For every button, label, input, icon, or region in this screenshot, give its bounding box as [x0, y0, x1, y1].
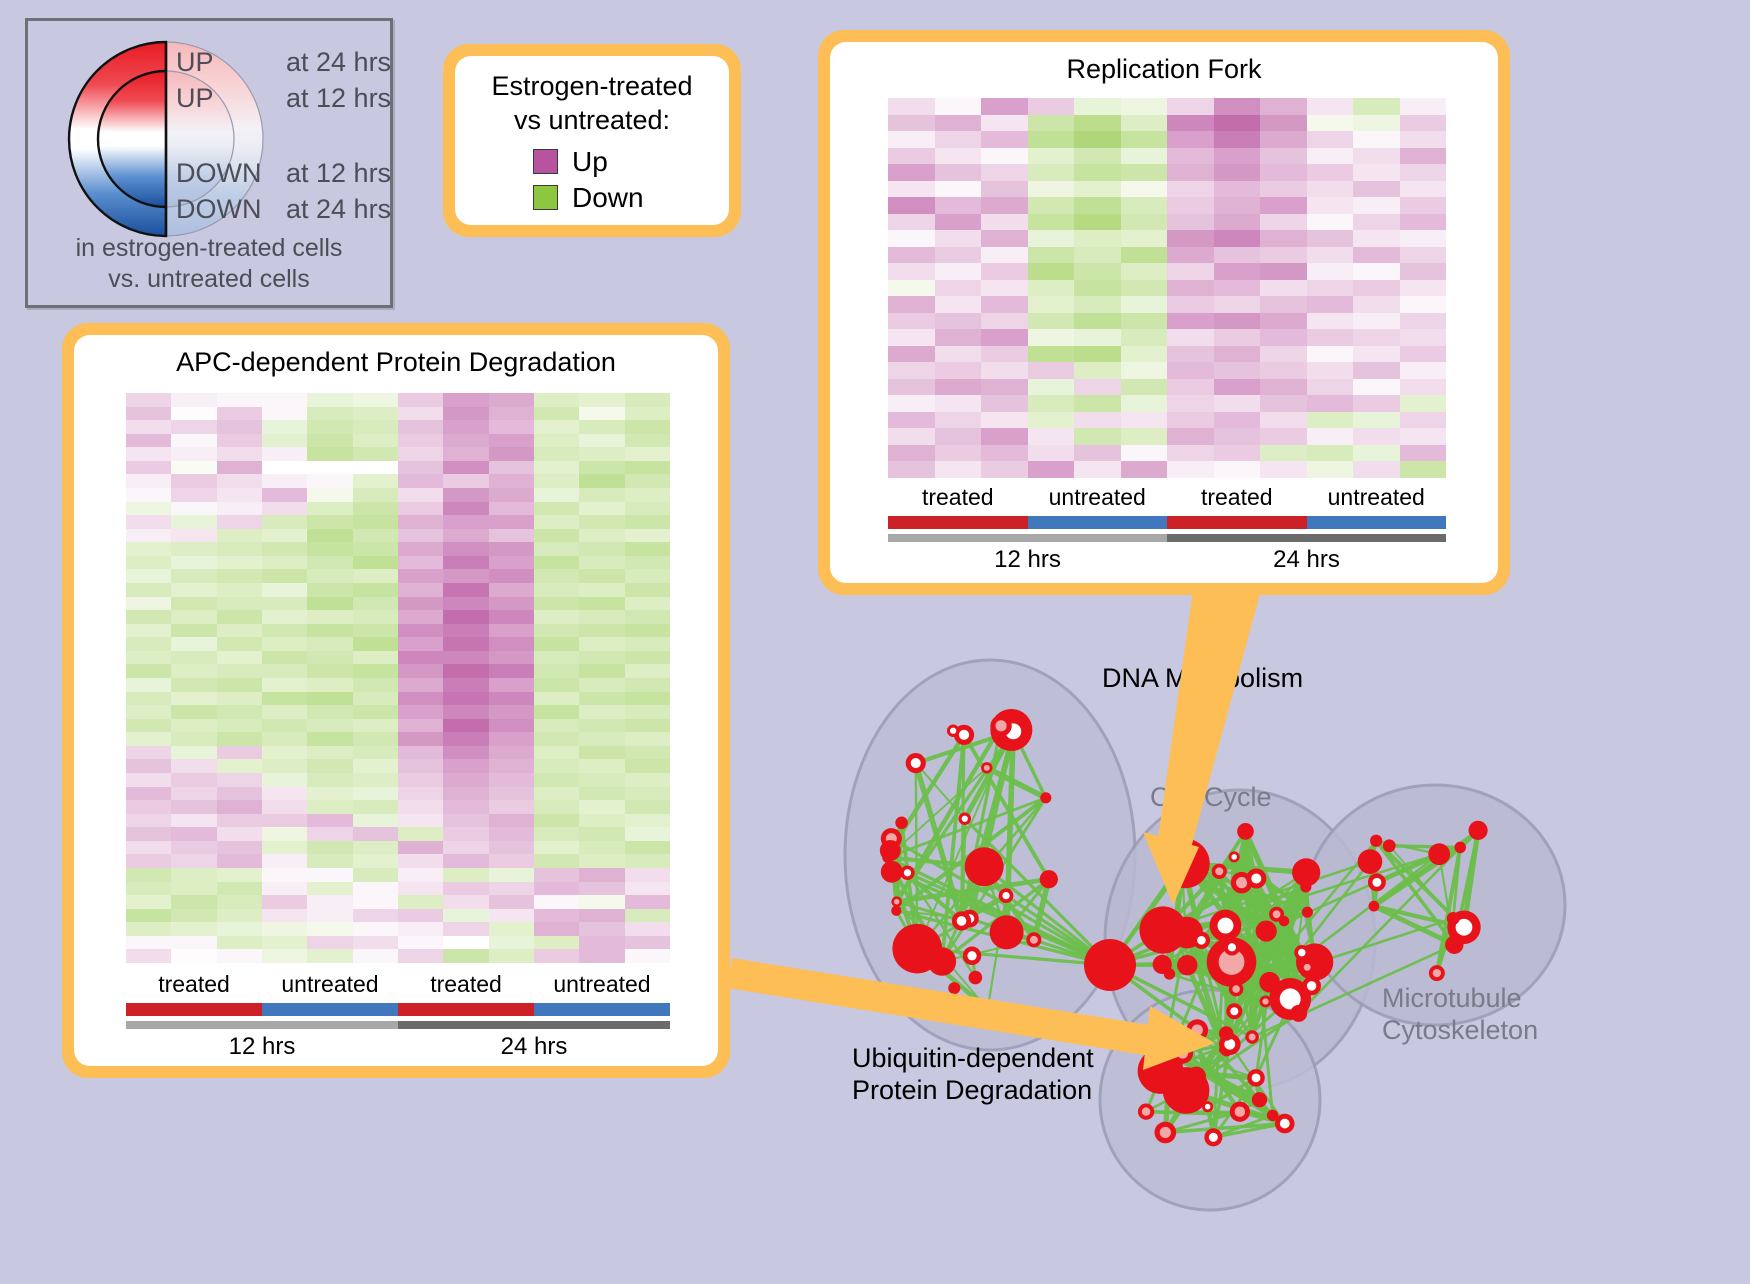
heatmap-cell — [981, 131, 1028, 148]
heatmap-cell — [126, 461, 171, 475]
heatmap-cell — [1260, 197, 1307, 214]
heatmap-cell — [262, 949, 307, 963]
heatmap-cell — [307, 407, 352, 421]
heatmap-cell — [625, 895, 670, 909]
heatmap-cell — [217, 461, 262, 475]
heatmap-cell — [398, 569, 443, 583]
heatmap-cell — [489, 529, 534, 543]
heatmap-cell — [398, 759, 443, 773]
heatmap-cell — [443, 692, 488, 706]
heatmap-cell — [307, 787, 352, 801]
heatmap-cell — [171, 542, 216, 556]
heatmap-cell — [579, 827, 624, 841]
heatmap-cell — [534, 732, 579, 746]
heatmap-cell — [625, 909, 670, 923]
heatmap-cell — [625, 393, 670, 407]
heatmap-cell — [1214, 197, 1261, 214]
heatmap-cell — [126, 556, 171, 570]
network-node-core — [984, 765, 990, 771]
heatmap-cell — [1307, 181, 1354, 198]
heatmap-cell — [534, 854, 579, 868]
replication-fork-heatmap — [888, 98, 1446, 478]
heatmap-cell — [262, 597, 307, 611]
heatmap-cell — [398, 787, 443, 801]
heatmap-cell — [1353, 329, 1400, 346]
heatmap-cell — [579, 434, 624, 448]
heatmap-cell — [307, 542, 352, 556]
pathway-network-diagram: DNA Metabolism Cell Cycle Microtubule Cy… — [790, 610, 1750, 1279]
heatmap-cell — [1167, 115, 1214, 132]
heatmap-cell — [1074, 428, 1121, 445]
heatmap-cell — [888, 296, 935, 313]
heatmap-cell — [398, 719, 443, 733]
heatmap-cell — [126, 474, 171, 488]
heatmap-cell — [171, 868, 216, 882]
heatmap-cell — [1400, 197, 1447, 214]
heatmap-cell — [1028, 164, 1075, 181]
heatmap-cell — [625, 746, 670, 760]
heatmap-cell — [579, 624, 624, 638]
rf-condition-color-bar — [888, 516, 1446, 529]
network-node — [1454, 842, 1466, 854]
heatmap-cell — [579, 787, 624, 801]
heatmap-cell — [262, 474, 307, 488]
heatmap-cell — [1214, 263, 1261, 280]
heatmap-cell — [1353, 98, 1400, 115]
heatmap-cell — [489, 827, 534, 841]
heatmap-cell — [1028, 280, 1075, 297]
heatmap-cell — [353, 882, 398, 896]
heatmap-cell — [534, 610, 579, 624]
heatmap-cell — [353, 678, 398, 692]
heatmap-cell — [489, 841, 534, 855]
heatmap-cell — [217, 895, 262, 909]
heatmap-cell — [262, 556, 307, 570]
heatmap-cell — [1214, 379, 1261, 396]
heatmap-cell — [1121, 296, 1168, 313]
heatmap-cell — [1400, 280, 1447, 297]
heatmap-cell — [1214, 98, 1261, 115]
heatmap-cell — [1260, 346, 1307, 363]
heatmap-cell — [353, 719, 398, 733]
heatmap-cell — [171, 651, 216, 665]
heatmap-cell — [353, 827, 398, 841]
heatmap-cell — [307, 624, 352, 638]
heatmap-cell — [981, 247, 1028, 264]
heatmap-cell — [625, 583, 670, 597]
heatmap-cell — [443, 678, 488, 692]
heatmap-cell — [579, 705, 624, 719]
heatmap-cell — [1074, 395, 1121, 412]
time-label: 24 hrs — [1167, 546, 1446, 574]
heatmap-cell — [262, 678, 307, 692]
heatmap-cell — [307, 705, 352, 719]
heatmap-cell — [1260, 214, 1307, 231]
heatmap-cell — [126, 597, 171, 611]
heatmap-cell — [307, 664, 352, 678]
network-node — [1445, 936, 1463, 954]
network-node — [1302, 907, 1313, 918]
heatmap-cell — [443, 637, 488, 651]
heatmap-cell — [1028, 197, 1075, 214]
heatmap-cell — [1400, 131, 1447, 148]
heatmap-cell — [935, 412, 982, 429]
heatmap-cell — [981, 98, 1028, 115]
rf-panel-title: Replication Fork — [830, 42, 1498, 85]
heatmap-cell — [398, 895, 443, 909]
time-label: 24 hrs — [398, 1033, 670, 1061]
heatmap-cell — [262, 420, 307, 434]
heatmap-cell — [217, 556, 262, 570]
heatmap-cell — [307, 936, 352, 950]
heatmap-cell — [353, 407, 398, 421]
heatmap-cell — [443, 502, 488, 516]
network-node — [1300, 881, 1311, 892]
heatmap-cell — [1028, 98, 1075, 115]
heatmap-cell — [126, 447, 171, 461]
heatmap-cell — [126, 868, 171, 882]
heatmap-cell — [1260, 461, 1307, 478]
heatmap-cell — [981, 296, 1028, 313]
heatmap-cell — [307, 610, 352, 624]
heatmap-cell — [1028, 115, 1075, 132]
heatmap-cell — [625, 787, 670, 801]
heatmap-cell — [981, 181, 1028, 198]
heatmap-cell — [981, 280, 1028, 297]
heatmap-cell — [171, 664, 216, 678]
heatmap-cell — [1353, 313, 1400, 330]
heatmap-cell — [534, 637, 579, 651]
network-node-core — [1232, 985, 1240, 993]
network-node — [969, 971, 983, 985]
heatmap-cell — [579, 732, 624, 746]
heatmap-cell — [307, 692, 352, 706]
heatmap-cell — [126, 949, 171, 963]
heatmap-cell — [625, 678, 670, 692]
heatmap-cell — [981, 379, 1028, 396]
heatmap-cell — [1214, 148, 1261, 165]
heatmap-cell — [398, 827, 443, 841]
heatmap-cell — [1260, 445, 1307, 462]
heatmap-cell — [217, 569, 262, 583]
heatmap-cell — [1214, 280, 1261, 297]
heatmap-cell — [625, 814, 670, 828]
heatmap-cell — [1353, 428, 1400, 445]
network-node — [1369, 901, 1380, 912]
heatmap-cell — [1121, 247, 1168, 264]
heatmap-cell — [1260, 313, 1307, 330]
heatmap-cell — [1121, 214, 1168, 231]
heatmap-cell — [171, 610, 216, 624]
heatmap-cell — [1074, 280, 1121, 297]
heatmap-cell — [534, 407, 579, 421]
time-bar-segment — [398, 1021, 670, 1029]
heatmap-cell — [625, 949, 670, 963]
heatmap-cell — [625, 610, 670, 624]
heatmap-cell — [935, 445, 982, 462]
heatmap-cell — [489, 488, 534, 502]
heatmap-cell — [888, 280, 935, 297]
heatmap-cell — [443, 542, 488, 556]
heatmap-cell — [1400, 412, 1447, 429]
heatmap-cell — [1307, 313, 1354, 330]
heatmap-cell — [1260, 247, 1307, 264]
heatmap-cell — [171, 746, 216, 760]
heatmap-cell — [1400, 445, 1447, 462]
heatmap-cell — [443, 882, 488, 896]
heatmap-cell — [981, 230, 1028, 247]
heatmap-cell — [1400, 313, 1447, 330]
network-node — [1040, 792, 1051, 803]
heatmap-cell — [217, 624, 262, 638]
network-node — [1040, 870, 1058, 888]
estrogen-key-panel: Estrogen-treated vs untreated: Up Down — [443, 44, 741, 237]
heatmap-cell — [262, 529, 307, 543]
heatmap-cell — [579, 529, 624, 543]
heatmap-cell — [443, 664, 488, 678]
network-node — [1084, 939, 1136, 991]
heatmap-cell — [353, 651, 398, 665]
heatmap-cell — [1028, 214, 1075, 231]
heatmap-cell — [262, 447, 307, 461]
heatmap-cell — [1167, 263, 1214, 280]
heatmap-cell — [262, 434, 307, 448]
heatmap-cell — [126, 732, 171, 746]
heatmap-cell — [217, 692, 262, 706]
heatmap-cell — [262, 841, 307, 855]
heatmap-cell — [1307, 230, 1354, 247]
heatmap-cell — [1028, 131, 1075, 148]
heatmap-cell — [534, 692, 579, 706]
heatmap-cell — [398, 542, 443, 556]
heatmap-cell — [126, 854, 171, 868]
heatmap-cell — [171, 773, 216, 787]
heatmap-cell — [935, 461, 982, 478]
network-node — [1469, 821, 1488, 840]
heatmap-cell — [981, 445, 1028, 462]
network-node-core — [1215, 867, 1223, 875]
heatmap-cell — [1028, 395, 1075, 412]
heatmap-cell — [443, 759, 488, 773]
apc-panel: APC-dependent Protein Degradation treate… — [62, 323, 730, 1078]
heatmap-cell — [262, 705, 307, 719]
heatmap-cell — [353, 909, 398, 923]
heatmap-cell — [981, 428, 1028, 445]
heatmap-cell — [262, 895, 307, 909]
network-node — [1256, 920, 1277, 941]
heatmap-cell — [1121, 329, 1168, 346]
heatmap-cell — [126, 827, 171, 841]
heatmap-cell — [307, 529, 352, 543]
heatmap-cell — [353, 705, 398, 719]
heatmap-cell — [1260, 115, 1307, 132]
network-node-core — [1177, 1048, 1188, 1059]
heatmap-cell — [1353, 379, 1400, 396]
heatmap-cell — [534, 773, 579, 787]
heatmap-cell — [534, 922, 579, 936]
heatmap-cell — [443, 434, 488, 448]
heatmap-cell — [935, 395, 982, 412]
heatmap-cell — [625, 773, 670, 787]
heatmap-cell — [1074, 313, 1121, 330]
heatmap-cell — [262, 692, 307, 706]
heatmap-cell — [398, 393, 443, 407]
heatmap-cell — [534, 447, 579, 461]
network-node-core — [904, 869, 911, 876]
heatmap-cell — [443, 474, 488, 488]
heatmap-cell — [534, 434, 579, 448]
heatmap-cell — [1074, 247, 1121, 264]
heatmap-cell — [262, 814, 307, 828]
heatmap-cell — [888, 395, 935, 412]
network-node-core — [1142, 1107, 1150, 1115]
heatmap-cell — [443, 800, 488, 814]
heatmap-cell — [1260, 164, 1307, 181]
heatmap-cell — [217, 949, 262, 963]
mt-line1: Microtubule — [1382, 982, 1538, 1014]
heatmap-cell — [171, 705, 216, 719]
heatmap-cell — [489, 407, 534, 421]
heatmap-cell — [1214, 181, 1261, 198]
heatmap-cell — [935, 230, 982, 247]
network-node-core — [950, 728, 956, 734]
heatmap-cell — [1214, 131, 1261, 148]
heatmap-cell — [935, 362, 982, 379]
heatmap-cell — [443, 746, 488, 760]
heatmap-cell — [126, 719, 171, 733]
heatmap-cell — [579, 949, 624, 963]
heatmap-cell — [935, 148, 982, 165]
heatmap-cell — [534, 868, 579, 882]
heatmap-cell — [262, 854, 307, 868]
heatmap-cell — [398, 814, 443, 828]
heatmap-cell — [307, 895, 352, 909]
heatmap-cell — [489, 800, 534, 814]
heatmap-cell — [126, 542, 171, 556]
heatmap-cell — [981, 329, 1028, 346]
heatmap-cell — [1121, 362, 1168, 379]
heatmap-cell — [307, 814, 352, 828]
heatmap-cell — [217, 515, 262, 529]
heatmap-cell — [262, 488, 307, 502]
heatmap-cell — [217, 773, 262, 787]
legend-time-up-24: at 24 hrs — [286, 47, 391, 77]
network-node-core — [1030, 936, 1038, 944]
cluster-label-ubiquitin-degradation: Ubiquitin-dependent Protein Degradation — [852, 1042, 1094, 1107]
heatmap-cell — [307, 488, 352, 502]
heatmap-cell — [534, 827, 579, 841]
heatmap-cell — [126, 678, 171, 692]
heatmap-cell — [534, 461, 579, 475]
heatmap-cell — [1074, 445, 1121, 462]
heatmap-cell — [217, 678, 262, 692]
heatmap-cell — [217, 502, 262, 516]
heatmap-cell — [443, 624, 488, 638]
heatmap-cell — [1260, 428, 1307, 445]
heatmap-cell — [262, 868, 307, 882]
heatmap-cell — [262, 664, 307, 678]
heatmap-cell — [1307, 379, 1354, 396]
heatmap-cell — [981, 313, 1028, 330]
heatmap-cell — [126, 407, 171, 421]
heatmap-cell — [1214, 296, 1261, 313]
heatmap-cell — [579, 719, 624, 733]
heatmap-cell — [1167, 230, 1214, 247]
heatmap-cell — [1074, 115, 1121, 132]
heatmap-cell — [171, 719, 216, 733]
legend-label-down-24: DOWN — [176, 194, 286, 225]
heatmap-cell — [625, 515, 670, 529]
heatmap-cell — [171, 732, 216, 746]
heatmap-cell — [307, 502, 352, 516]
heatmap-cell — [126, 583, 171, 597]
heatmap-cell — [625, 841, 670, 855]
heatmap-cell — [171, 407, 216, 421]
heatmap-cell — [1028, 412, 1075, 429]
heatmap-cell — [217, 759, 262, 773]
ubi-line1: Ubiquitin-dependent — [852, 1042, 1094, 1074]
heatmap-cell — [1353, 148, 1400, 165]
heatmap-cell — [171, 787, 216, 801]
heatmap-cell — [353, 420, 398, 434]
heatmap-cell — [625, 529, 670, 543]
heatmap-cell — [262, 461, 307, 475]
network-node — [1164, 968, 1175, 979]
heatmap-cell — [171, 583, 216, 597]
heatmap-cell — [1121, 428, 1168, 445]
heatmap-cell — [1260, 395, 1307, 412]
heatmap-cell — [443, 515, 488, 529]
heatmap-cell — [126, 909, 171, 923]
network-node-core — [1218, 918, 1234, 934]
heatmap-cell — [1307, 280, 1354, 297]
ubi-line2: Protein Degradation — [852, 1074, 1094, 1106]
heatmap-cell — [935, 346, 982, 363]
heatmap-cell — [1028, 346, 1075, 363]
heatmap-cell — [398, 556, 443, 570]
heatmap-cell — [1260, 263, 1307, 280]
heatmap-cell — [126, 637, 171, 651]
heatmap-cell — [443, 841, 488, 855]
legend-row-up-12: UPat 12 hrs — [176, 83, 391, 114]
heatmap-cell — [489, 583, 534, 597]
heatmap-cell — [353, 895, 398, 909]
heatmap-cell — [1400, 214, 1447, 231]
heatmap-cell — [489, 922, 534, 936]
heatmap-cell — [1400, 247, 1447, 264]
condition-label: treated — [398, 971, 534, 998]
heatmap-cell — [126, 502, 171, 516]
heatmap-cell — [217, 447, 262, 461]
heatmap-cell — [1121, 412, 1168, 429]
heatmap-cell — [1400, 346, 1447, 363]
heatmap-cell — [1307, 428, 1354, 445]
heatmap-cell — [888, 362, 935, 379]
heatmap-cell — [1353, 362, 1400, 379]
heatmap-cell — [1167, 247, 1214, 264]
heatmap-cell — [1028, 313, 1075, 330]
network-node-core — [1235, 1106, 1246, 1117]
heatmap-cell — [262, 787, 307, 801]
heatmap-cell — [1214, 329, 1261, 346]
heatmap-cell — [935, 428, 982, 445]
heatmap-cell — [935, 115, 982, 132]
network-node-core — [911, 758, 921, 768]
heatmap-cell — [171, 529, 216, 543]
heatmap-cell — [307, 746, 352, 760]
heatmap-cell — [1307, 395, 1354, 412]
heatmap-cell — [353, 922, 398, 936]
